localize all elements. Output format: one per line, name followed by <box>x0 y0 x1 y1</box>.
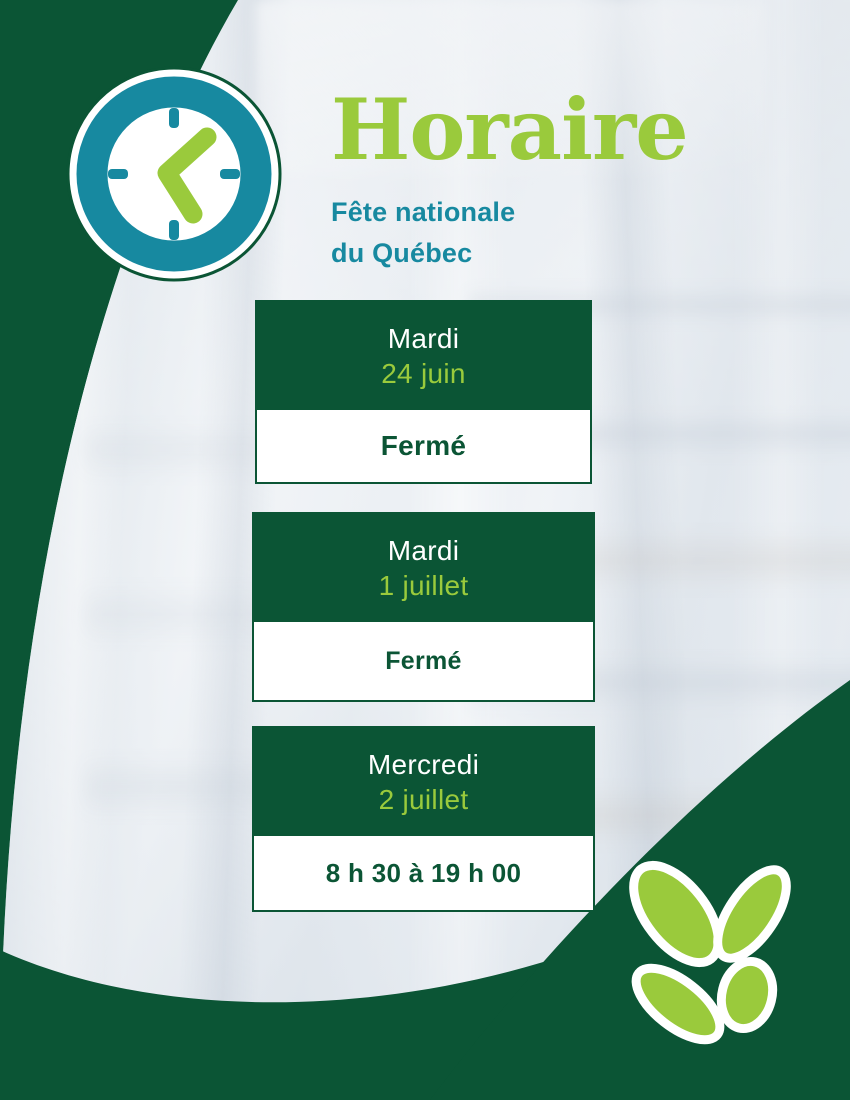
schedule-date: 24 juin <box>255 356 592 392</box>
schedule-hours: Fermé <box>255 410 592 484</box>
schedule-day: Mardi <box>252 534 595 568</box>
schedule-card: Mardi 24 juin Fermé <box>255 300 592 484</box>
schedule-card-header: Mardi 24 juin <box>255 300 592 410</box>
schedule-date: 2 juillet <box>252 782 595 818</box>
schedule-card-header: Mercredi 2 juillet <box>252 726 595 836</box>
schedule-hours: 8 h 30 à 19 h 00 <box>252 836 595 912</box>
schedule-hours: Fermé <box>252 622 595 702</box>
schedule-poster: Horaire Fête nationale du Québec Mardi 2… <box>0 0 850 1100</box>
butterfly-flower-icon <box>616 852 816 1060</box>
schedule-date: 1 juillet <box>252 568 595 604</box>
schedule-card: Mercredi 2 juillet 8 h 30 à 19 h 00 <box>252 726 595 912</box>
schedule-day: Mardi <box>255 322 592 356</box>
schedule-card-header: Mardi 1 juillet <box>252 512 595 622</box>
schedule-card: Mardi 1 juillet Fermé <box>252 512 595 702</box>
schedule-day: Mercredi <box>252 748 595 782</box>
